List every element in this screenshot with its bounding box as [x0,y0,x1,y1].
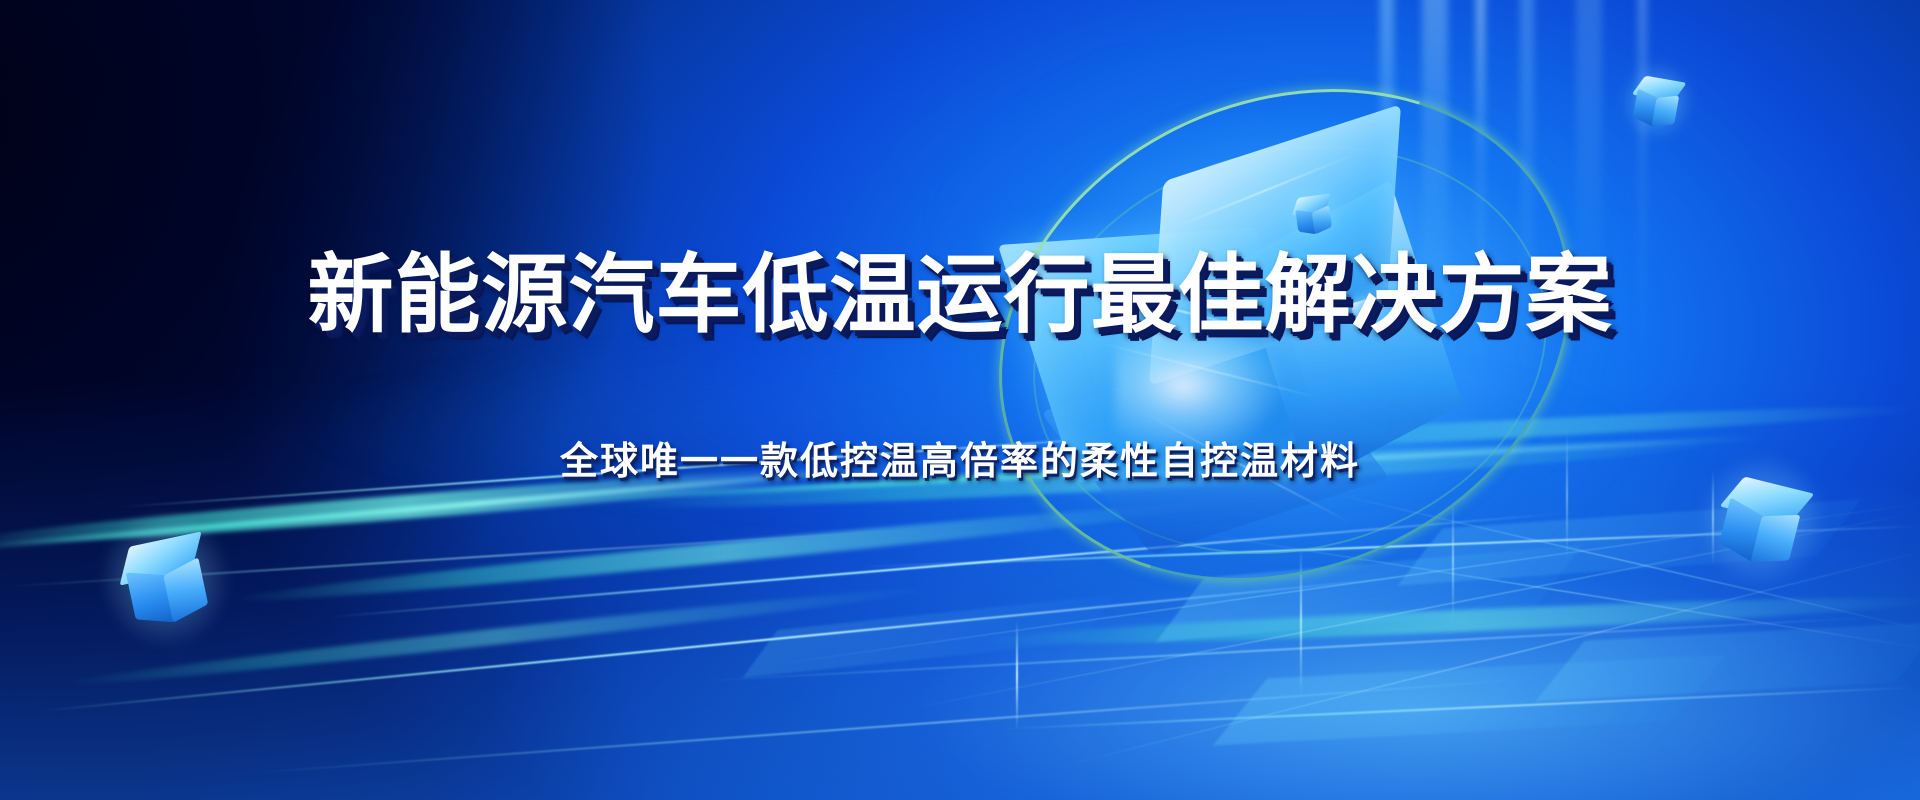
page-subtitle: 全球唯一一款低控温高倍率的柔性自控温材料 [560,443,1360,481]
banner-text-block: 新能源汽车低温运行最佳解决方案 全球唯一一款低控温高倍率的柔性自控温材料 [0,0,1920,800]
page-title: 新能源汽车低温运行最佳解决方案 [308,252,1613,338]
hero-banner: 新能源汽车低温运行最佳解决方案 全球唯一一款低控温高倍率的柔性自控温材料 [0,0,1920,800]
